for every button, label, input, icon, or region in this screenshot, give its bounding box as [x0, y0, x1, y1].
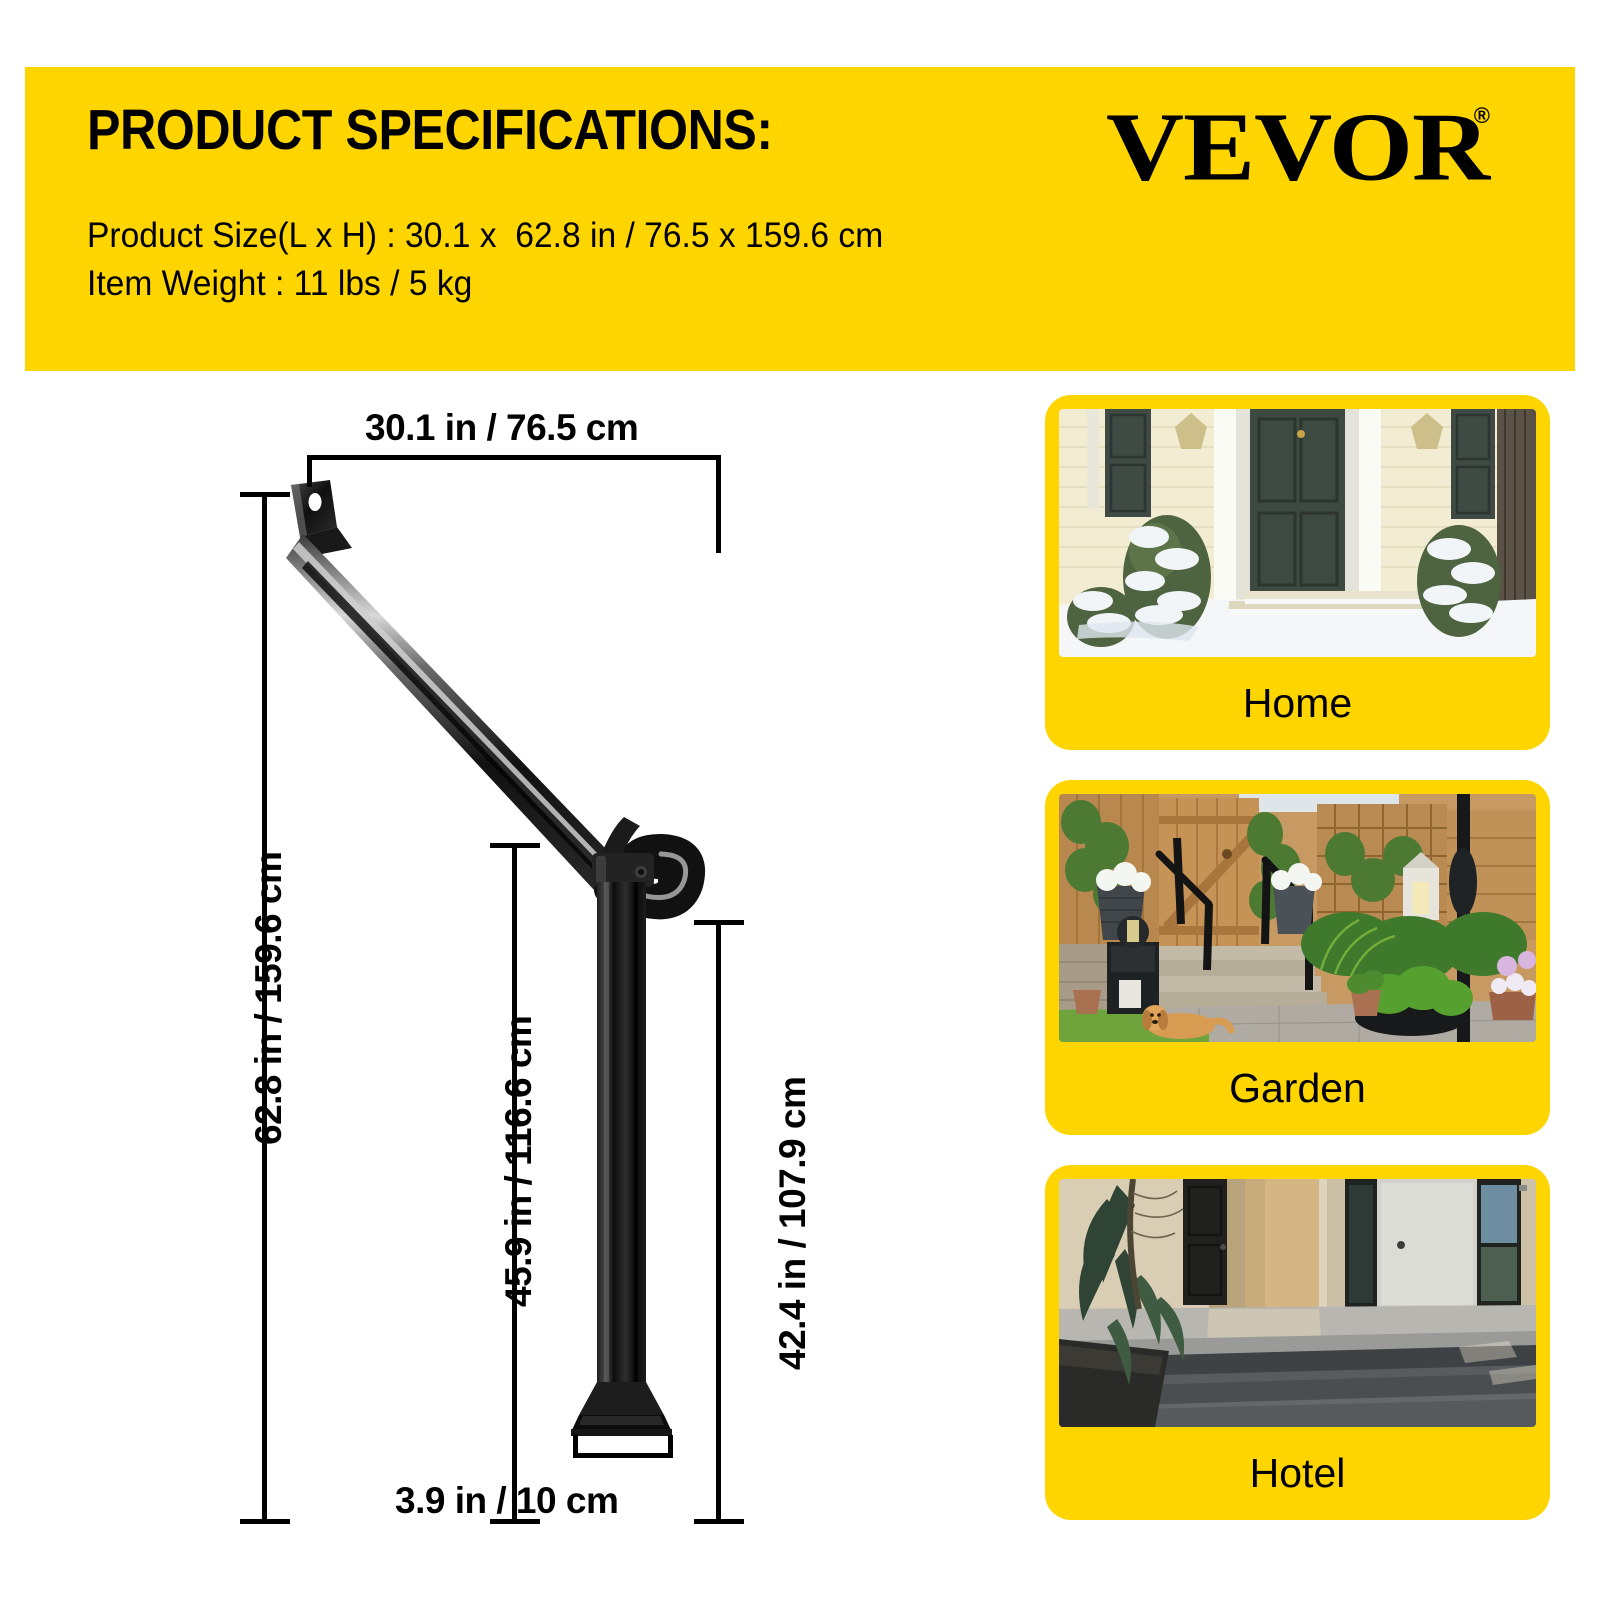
dimension-tick-post-top: [490, 843, 540, 848]
dimension-tick-top-right: [716, 455, 721, 553]
dimension-label-top-width: 30.1 in / 76.5 cm: [365, 407, 638, 449]
dimension-line-post-height: [512, 843, 517, 1524]
spec-line-product-size: Product Size(L x H) : 30.1 x 62.8 in / 7…: [87, 212, 883, 260]
dimension-tick-rail-end-bottom: [694, 1519, 744, 1524]
vevor-logo: VEVOR ®: [1106, 99, 1490, 201]
spec-line-item-weight: Item Weight : 11 lbs / 5 kg: [87, 260, 883, 308]
dimension-tick-top-left: [307, 455, 312, 487]
vertical-post: [597, 882, 646, 1382]
application-scene-cards: Home: [1045, 395, 1550, 1550]
scene-photo-hotel: [1059, 1179, 1536, 1427]
scene-photo-garden: [1059, 794, 1536, 1042]
page-title: PRODUCT SPECIFICATIONS:: [87, 97, 773, 163]
dimension-line-rail-end-height: [716, 920, 721, 1524]
scene-card-garden[interactable]: Garden: [1045, 780, 1550, 1135]
scene-photo-home: [1059, 409, 1536, 657]
scene-label-hotel: Hotel: [1045, 1427, 1550, 1520]
product-specification-page: PRODUCT SPECIFICATIONS: Product Size(L x…: [0, 0, 1600, 1600]
post-base-flange: [571, 1382, 672, 1436]
brand-wordmark: VEVOR: [1106, 99, 1489, 197]
dimension-line-overall-height: [262, 492, 267, 1524]
scene-card-home[interactable]: Home: [1045, 395, 1550, 750]
product-dimension-diagram: 30.1 in / 76.5 cm 62.8 in / 159.6 cm 45.…: [0, 385, 1020, 1600]
dimension-label-base-width: 3.9 in / 10 cm: [395, 1480, 618, 1522]
handrail-illustration: [0, 385, 1020, 1600]
scene-label-home: Home: [1045, 657, 1550, 750]
dimension-line-top: [307, 455, 721, 460]
header-banner: PRODUCT SPECIFICATIONS: Product Size(L x…: [25, 67, 1575, 371]
dimension-tick-height-bottom: [240, 1519, 290, 1524]
dimension-tick-height-top: [240, 492, 290, 497]
dimension-tick-rail-end-top: [694, 920, 744, 925]
scene-card-hotel[interactable]: Hotel: [1045, 1165, 1550, 1520]
dimension-tick-base-right: [668, 1435, 673, 1458]
dimension-label-overall-height: 62.8 in / 159.6 cm: [248, 852, 290, 1145]
dimension-tick-base-left: [573, 1435, 578, 1458]
dimension-line-base-width: [573, 1453, 673, 1458]
dimension-label-post-height: 45.9 in / 116.6 cm: [498, 1016, 540, 1307]
specification-list: Product Size(L x H) : 30.1 x 62.8 in / 7…: [87, 212, 883, 309]
diagonal-rail: [286, 534, 633, 905]
dimension-label-rail-end-height: 42.4 in / 107.9 cm: [772, 1077, 814, 1370]
scene-label-garden: Garden: [1045, 1042, 1550, 1135]
